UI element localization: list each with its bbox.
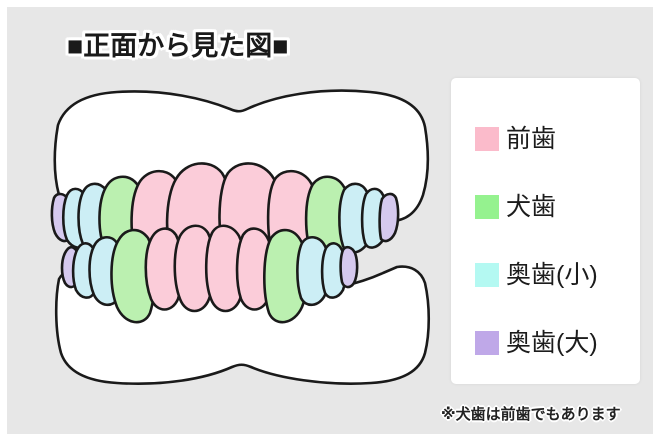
legend-label-front-teeth: 前歯 <box>506 125 556 153</box>
legend-item-molar[interactable]: 奥歯(大) <box>475 316 640 370</box>
page-title: ■正面から見た図■ <box>67 31 289 61</box>
teeth-illustration-svg <box>25 83 445 388</box>
legend-swatch-canine <box>475 195 499 219</box>
screenshot-root: ■正面から見た図■ <box>0 0 660 441</box>
diagram-canvas: ■正面から見た図■ <box>7 7 653 434</box>
legend-item-front-teeth[interactable]: 前歯 <box>475 112 640 166</box>
legend-swatch-premolar <box>475 263 499 287</box>
legend-swatch-front-teeth <box>475 127 499 151</box>
legend-list: 前歯 犬歯 奥歯(小) 奥歯(大) <box>451 78 640 384</box>
legend-swatch-molar <box>475 331 499 355</box>
legend-card: 前歯 犬歯 奥歯(小) 奥歯(大) <box>451 78 640 384</box>
teeth-illustration <box>25 83 445 388</box>
legend-label-molar: 奥歯(大) <box>506 329 598 357</box>
legend-item-premolar[interactable]: 奥歯(小) <box>475 248 640 302</box>
legend-label-canine: 犬歯 <box>506 193 556 221</box>
legend-label-premolar: 奥歯(小) <box>506 261 598 289</box>
upper-tooth-molar-right <box>380 194 399 241</box>
footnote-text: ※犬歯は前歯でもあります <box>441 406 621 424</box>
legend-item-canine[interactable]: 犬歯 <box>475 180 640 234</box>
lower-tooth-molar-right <box>341 247 358 287</box>
